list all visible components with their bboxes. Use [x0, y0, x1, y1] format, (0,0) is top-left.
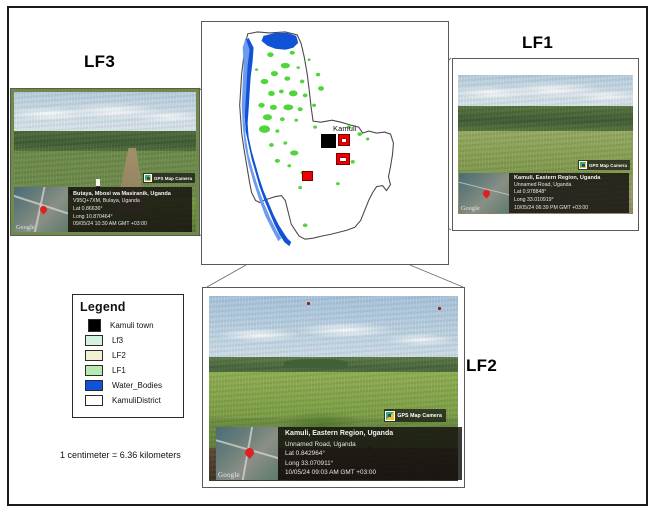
stamp-latitude-lf2: Lat 0.842964°	[285, 449, 458, 458]
district-map-panel[interactable]: Kamuli	[201, 21, 449, 265]
stamp-longitude-lf3: Long 10.870464°	[73, 214, 188, 222]
stamp-locality-lf2: Kamuli, Eastern Region, Uganda	[285, 429, 458, 439]
legend-item-kamuli-district[interactable]: KamuliDistrict	[80, 393, 177, 408]
gps-map-camera-label: GPS Map Camera	[589, 163, 627, 168]
stamp-locality-lf3: Butaya, Mbosi wa Masiranik, Uganda	[73, 190, 188, 198]
photo-lf1: Google Kamuli, Eastern Region, Uganda Un…	[453, 59, 638, 230]
legend-swatch-lf1	[85, 365, 103, 376]
gps-map-camera-icon	[144, 174, 152, 182]
photo-panel-lf2[interactable]: Google Kamuli, Eastern Region, Uganda Un…	[202, 287, 465, 488]
stamp-longitude-lf1: Long 33.010919°	[514, 197, 625, 205]
gps-stamp-lf3: Google Butaya, Mbosi wa Masiranik, Ugand…	[14, 187, 192, 232]
legend-label-kamuli-district: KamuliDistrict	[112, 396, 161, 405]
photo-title-lf2: LF2	[466, 356, 497, 376]
legend-swatch-lf2	[85, 350, 103, 361]
hill-ridge	[284, 359, 349, 368]
gps-stamp-lf1: Google Kamuli, Eastern Region, Uganda Un…	[459, 173, 629, 213]
gps-map-camera-watermark-lf2: GPS Map Camera	[384, 409, 446, 422]
legend-swatch-kamuli-district	[85, 395, 103, 406]
stamp-minimap-lf1: Google	[459, 173, 509, 213]
photo-panel-lf1[interactable]: Google Kamuli, Eastern Region, Uganda Un…	[452, 58, 639, 231]
legend-swatch-water-bodies	[85, 380, 103, 391]
registration-point-tr	[438, 307, 441, 310]
gps-map-camera-watermark-lf1: GPS Map Camera	[578, 160, 630, 170]
site-marker-lf2[interactable]	[336, 153, 350, 165]
stamp-address-lf2: Unnamed Road, Uganda	[285, 440, 458, 449]
map-label-kamuli: Kamuli	[333, 124, 357, 133]
gps-map-camera-icon	[579, 161, 587, 169]
legend-item-lf3[interactable]: Lf3	[80, 333, 177, 348]
legend-item-water-bodies[interactable]: Water_Bodies	[80, 378, 177, 393]
site-marker-lf2-dot	[339, 157, 347, 162]
legend-label-water-bodies: Water_Bodies	[112, 381, 162, 390]
photo-panel-lf3[interactable]: Google Butaya, Mbosi wa Masiranik, Ugand…	[10, 88, 200, 236]
photo-title-lf3: LF3	[84, 52, 115, 72]
stamp-text-lf1: Kamuli, Eastern Region, Uganda Unnamed R…	[509, 173, 629, 213]
gps-map-camera-label: GPS Map Camera	[154, 176, 192, 181]
legend-label-lf2: LF2	[112, 351, 126, 360]
legend-label-kamuli-town: Kamuli town	[110, 321, 154, 330]
stamp-locality-lf1: Kamuli, Eastern Region, Uganda	[514, 174, 625, 182]
stamp-address-lf3: V95Q+7XM, Bulaya, Uganda	[73, 198, 188, 206]
stamp-longitude-lf2: Long 33.070911°	[285, 459, 458, 468]
kamuli-town-marker[interactable]	[321, 134, 336, 148]
site-marker-lf1[interactable]	[338, 134, 350, 146]
legend-swatch-lf3	[85, 335, 103, 346]
legend-label-lf1: LF1	[112, 366, 126, 375]
photo-lf2: Google Kamuli, Eastern Region, Uganda Un…	[203, 288, 464, 487]
gps-map-camera-icon	[385, 411, 395, 421]
google-brand-lf1: Google	[461, 206, 480, 212]
gps-stamp-lf2: Google Kamuli, Eastern Region, Uganda Un…	[216, 427, 462, 480]
stamp-timestamp-lf2: 10/05/24 09:03 AM GMT +03:00	[285, 468, 458, 477]
map-scale-text: 1 centimeter = 6.36 kilometers	[60, 450, 181, 460]
google-brand-lf3: Google	[16, 225, 35, 231]
gps-map-camera-label: GPS Map Camera	[397, 413, 442, 419]
legend-item-lf1[interactable]: LF1	[80, 363, 177, 378]
legend-title: Legend	[80, 300, 177, 314]
stamp-timestamp-lf1: 10/05/24 06:39 PM GMT +03:00	[514, 205, 625, 213]
stamp-latitude-lf1: Lat 0.978848°	[514, 189, 625, 197]
legend-item-lf2[interactable]: LF2	[80, 348, 177, 363]
stamp-text-lf2: Kamuli, Eastern Region, Uganda Unnamed R…	[278, 427, 462, 480]
photo-title-lf1: LF1	[522, 33, 553, 53]
stamp-timestamp-lf3: 09/05/24 10:30 AM GMT +03:00	[73, 221, 188, 229]
legend: Legend Kamuli town Lf3 LF2 LF1 Water_Bod…	[72, 294, 184, 418]
legend-swatch-kamuli-town	[88, 319, 101, 332]
stamp-text-lf3: Butaya, Mbosi wa Masiranik, Uganda V95Q+…	[68, 187, 192, 232]
stamp-minimap-lf2: Google	[216, 427, 278, 480]
photo-lf3: Google Butaya, Mbosi wa Masiranik, Ugand…	[11, 89, 199, 235]
stamp-address-lf1: Unnamed Road, Uganda	[514, 182, 625, 190]
stamp-latitude-lf3: Lat 0.86636°	[73, 206, 188, 214]
stamp-minimap-lf3: Google	[14, 187, 68, 232]
figure-root: Kamuli LF3	[0, 0, 655, 513]
legend-item-kamuli-town[interactable]: Kamuli town	[80, 318, 177, 333]
site-marker-lf3[interactable]	[302, 171, 313, 181]
gps-map-camera-watermark-lf3: GPS Map Camera	[143, 173, 195, 183]
legend-label-lf3: Lf3	[112, 336, 123, 345]
registration-point-tl	[307, 302, 310, 305]
site-marker-lf1-dot	[341, 138, 347, 143]
google-brand-lf2: Google	[218, 471, 240, 479]
